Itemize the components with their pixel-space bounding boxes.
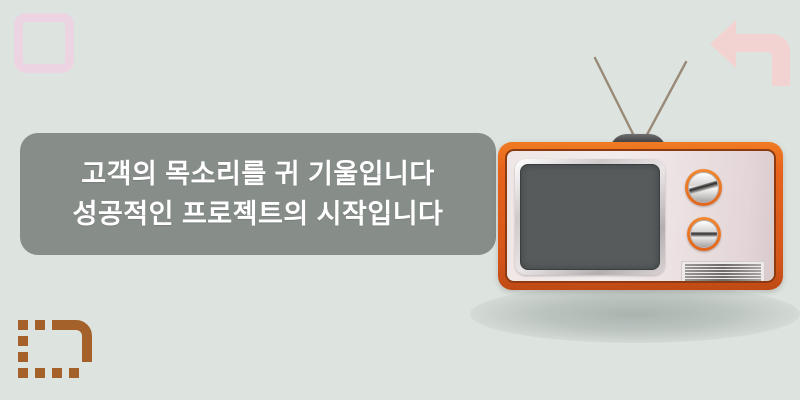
tuner-knob-upper[interactable] [685,169,722,206]
poster-canvas: 고객의 목소리를 귀 기울입니다 성공적인 프로젝트의 시작입니다 [0,0,800,400]
television-screen [520,164,660,270]
television-shadow [470,285,800,343]
headline-line-2: 성공적인 프로젝트의 시작입니다 [73,194,444,234]
television-cabinet [498,142,783,290]
headline-banner: 고객의 목소리를 귀 기울입니다 성공적인 프로젝트의 시작입니다 [20,133,496,255]
retro-television-illustration [498,40,783,290]
screen-bezel [515,159,665,275]
tuner-knob-lower[interactable] [687,217,721,251]
dashed-corner-bracket-icon [18,308,92,382]
rounded-square-outline-icon [14,13,74,73]
speaker-grille [681,261,765,283]
headline-line-1: 고객의 목소리를 귀 기울입니다 [81,154,434,194]
